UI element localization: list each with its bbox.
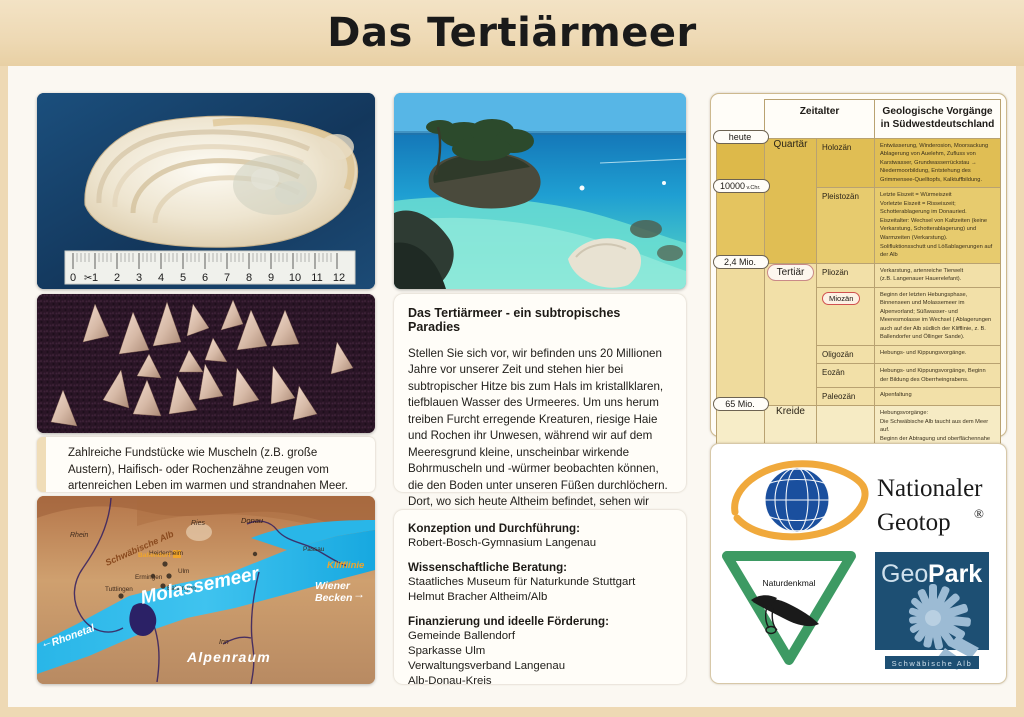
subtropical-sea-photo [394, 93, 686, 289]
fossil-oyster-photo: 012 345 678 91011 12 ✂ [37, 93, 375, 289]
svg-text:✂: ✂ [84, 273, 92, 284]
nationaler-geotop-logo: Nationaler Geotop ® [727, 456, 997, 546]
age-pill: 2,4 Mio. [713, 255, 769, 269]
naturdenkmal-label: Naturdenkmal [763, 578, 816, 588]
geotop-line1: Nationaler [877, 475, 983, 502]
desc-miozaen: Beginn der letzten Hebungsphase, Binnens… [875, 287, 1001, 345]
epoch-paleozaen: Paleozän [817, 388, 875, 406]
svg-text:Rhein: Rhein [70, 532, 88, 539]
epoch-pill-miozaen: Miozän [822, 292, 860, 305]
svg-text:Becken: Becken [315, 592, 352, 604]
geopark-logo: Geo Park [875, 552, 989, 672]
svg-text:Passau: Passau [303, 546, 325, 553]
geological-timescale-table: Zeitalter Geologische Vorgänge in Südwes… [710, 93, 1007, 437]
caption-text: Zahlreiche Fundstücke wie Muscheln (z.B.… [68, 445, 365, 495]
page-title: Das Tertiärmeer [327, 10, 696, 56]
svg-text:2: 2 [114, 272, 120, 284]
geo-header-events: Geologische Vorgänge in Südwestdeutschla… [875, 100, 1001, 139]
svg-text:10: 10 [289, 272, 301, 284]
svg-text:3: 3 [136, 272, 142, 284]
geopark-geo: Geo [881, 560, 928, 588]
geotop-line2: Geotop [877, 509, 951, 536]
desc-eozaen: Hebungs- und Kippungsvorgänge, Beginn de… [875, 363, 1001, 387]
molassemeer-map: Rhein Ries Donau Heidenheim Ermingen Ulm… [37, 496, 375, 684]
svg-text:®: ® [974, 506, 984, 521]
epoch-pliozaen: Pliozän [817, 263, 875, 287]
svg-text:7: 7 [224, 272, 230, 284]
geopark-park: Park [928, 560, 982, 588]
age-marker-10000: 10000 v.Chr. [717, 188, 765, 263]
desc-oligozaen: Hebungs- und Kippungsvorgänge. [875, 345, 1001, 363]
svg-text:→: → [353, 587, 365, 601]
svg-text:11: 11 [311, 272, 322, 284]
age-marker-24mio: 2,4 Mio. [717, 263, 765, 405]
svg-text:Tuttlingen: Tuttlingen [105, 586, 133, 593]
desc-holozaen: Entwässerung, Winderosion, Moorsackung A… [875, 138, 1001, 188]
credit-block: Finanzierung und ideelle Förderung: Geme… [408, 615, 672, 689]
epoch-eozaen: Eozän [817, 363, 875, 387]
credit-block: Konzeption und Durchführung: Robert-Bosc… [408, 522, 672, 551]
svg-text:9: 9 [268, 272, 274, 284]
svg-text:Donau: Donau [241, 516, 264, 525]
age-pill: 65 Mio. [713, 397, 769, 411]
svg-text:8: 8 [246, 272, 252, 284]
epoch-pleistozaen: Pleistozän [817, 188, 875, 263]
era-tertiaer: Tertiär [765, 263, 817, 405]
svg-text:Alpenraum: Alpenraum [186, 649, 271, 665]
credit-lines: Gemeinde Ballendorf Sparkasse Ulm Verwal… [408, 629, 672, 689]
svg-text:Inn: Inn [219, 639, 229, 646]
svg-text:Ballendorf: Ballendorf [138, 552, 171, 559]
intro-text-panel: Das Tertiärmeer - ein subtropisches Para… [394, 294, 686, 492]
epoch-miozaen: Miozän [817, 287, 875, 345]
svg-text:4: 4 [158, 272, 164, 284]
photo-caption: Zahlreiche Fundstücke wie Muscheln (z.B.… [37, 437, 375, 492]
desc-pleistozaen: Letzte Eiszeit = Würmeiszeit Vorletzte E… [875, 188, 1001, 263]
desc-paleozaen: Alpenfaltung [875, 388, 1001, 406]
svg-text:Ulm: Ulm [178, 568, 189, 575]
svg-text:12: 12 [333, 272, 345, 284]
shark-teeth-photo [37, 294, 375, 433]
svg-text:Ries: Ries [191, 520, 206, 527]
naturdenkmal-logo: Naturdenkmal [719, 548, 859, 666]
svg-text:0: 0 [70, 272, 76, 284]
info-board: Das Tertiärmeer [0, 0, 1024, 717]
credit-heading: Finanzierung und ideelle Förderung: [408, 615, 672, 628]
credit-lines: Staatliches Museum für Naturkunde Stuttg… [408, 575, 672, 605]
era-quartaer: Quartär [765, 138, 817, 263]
geopark-sub: Schwäbische Alb [892, 659, 973, 668]
desc-pliozaen: Verkarstung, artenreiche Tierwelt (z.B. … [875, 263, 1001, 287]
svg-text:1: 1 [92, 272, 98, 284]
logos-panel: Nationaler Geotop ® Naturdenkmal [710, 443, 1007, 684]
age-pill: 10000 v.Chr. [713, 179, 770, 193]
epoch-holozaen: Holozän [817, 138, 875, 188]
svg-text:5: 5 [180, 272, 186, 284]
svg-text:Ermingen: Ermingen [135, 574, 163, 581]
era-pill-tertiaer: Tertiär [767, 264, 815, 281]
intro-heading: Das Tertiärmeer - ein subtropisches Para… [408, 306, 672, 334]
epoch-oligozaen: Oligozän [817, 345, 875, 363]
credit-heading: Konzeption und Durchführung: [408, 522, 672, 535]
credits-panel: Konzeption und Durchführung: Robert-Bosc… [394, 510, 686, 684]
credit-heading: Wissenschaftliche Beratung: [408, 561, 672, 574]
age-pill: heute [713, 130, 769, 144]
svg-text:Wiener: Wiener [315, 580, 351, 592]
svg-text:Klifflinie: Klifflinie [327, 560, 365, 571]
credit-block: Wissenschaftliche Beratung: Staatliches … [408, 561, 672, 605]
credit-lines: Robert-Bosch-Gymnasium Langenau [408, 536, 672, 551]
svg-text:6: 6 [202, 272, 208, 284]
geo-header-era: Zeitalter [765, 100, 875, 139]
board-header: Das Tertiärmeer [0, 0, 1024, 66]
